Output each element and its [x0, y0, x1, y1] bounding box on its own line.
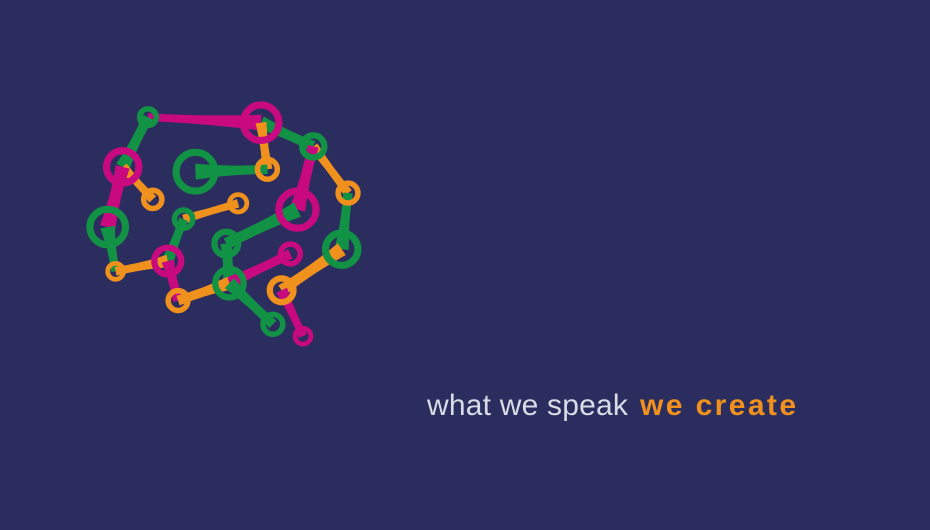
tagline-accent-text: we create	[640, 389, 798, 423]
page-root: what we speak we create	[0, 0, 930, 530]
logo-node-ring	[144, 190, 162, 208]
brain-network-logo	[55, 95, 445, 435]
tagline-light-text: what we speak	[427, 389, 628, 423]
logo-node-layer	[90, 105, 358, 344]
brain-logo-svg	[55, 95, 445, 435]
logo-link-layer	[100, 113, 353, 338]
tagline: what we speak we create	[427, 389, 798, 429]
